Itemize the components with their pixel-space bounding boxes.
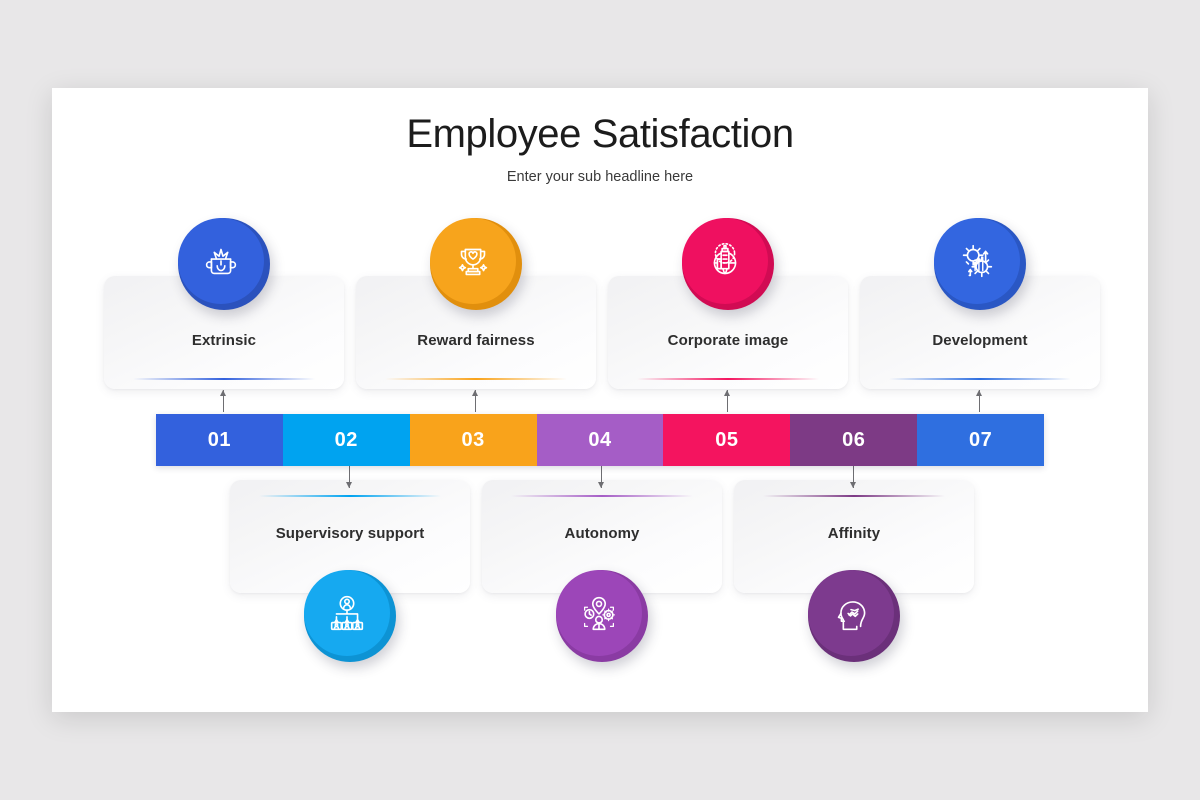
card-accent-line [385, 378, 567, 380]
slide-canvas: Employee Satisfaction Enter your sub hea… [52, 88, 1148, 712]
head-handshake-icon [828, 590, 874, 636]
step-segment-01[interactable]: 01 [156, 414, 283, 466]
trophy-heart-icon [450, 238, 496, 284]
connector-arrow-01 [218, 390, 229, 412]
step-segment-05[interactable]: 05 [663, 414, 790, 466]
icon-circle-supervisory-support[interactable] [304, 570, 396, 662]
card-label: Corporate image [608, 332, 848, 349]
card-accent-line [259, 495, 441, 497]
icon-circle-reward-fairness[interactable] [430, 218, 522, 310]
icon-circle-extrinsic[interactable] [178, 218, 270, 310]
card-label: Reward fairness [356, 332, 596, 349]
icon-circle-autonomy[interactable] [556, 570, 648, 662]
happy-head-icon [198, 238, 244, 284]
card-label: Autonomy [482, 525, 722, 542]
card-accent-line [637, 378, 819, 380]
person-gear-pin-icon [576, 590, 622, 636]
step-segment-03[interactable]: 03 [410, 414, 537, 466]
connector-arrow-05 [722, 390, 733, 412]
connector-arrow-02 [344, 466, 355, 488]
step-segment-06[interactable]: 06 [790, 414, 917, 466]
step-number-bar: 01 02 03 04 05 06 07 [156, 414, 1044, 466]
icon-circle-affinity[interactable] [808, 570, 900, 662]
card-label: Extrinsic [104, 332, 344, 349]
globe-building-icon [702, 238, 748, 284]
growth-gear-icon [954, 238, 1000, 284]
connector-arrow-07 [974, 390, 985, 412]
card-label: Affinity [734, 525, 974, 542]
page-subtitle: Enter your sub headline here [52, 169, 1148, 185]
org-chart-icon [324, 590, 370, 636]
step-segment-02[interactable]: 02 [283, 414, 410, 466]
card-label: Development [860, 332, 1100, 349]
connector-arrow-06 [848, 466, 859, 488]
card-accent-line [511, 495, 693, 497]
slide-header: Employee Satisfaction Enter your sub hea… [52, 112, 1148, 185]
card-label: Supervisory support [230, 525, 470, 542]
card-accent-line [889, 378, 1071, 380]
card-accent-line [133, 378, 315, 380]
step-segment-04[interactable]: 04 [537, 414, 664, 466]
step-segment-07[interactable]: 07 [917, 414, 1044, 466]
page-title: Employee Satisfaction [52, 112, 1148, 156]
icon-circle-corporate-image[interactable] [682, 218, 774, 310]
connector-arrow-03 [470, 390, 481, 412]
card-accent-line [763, 495, 945, 497]
connector-arrow-04 [596, 466, 607, 488]
icon-circle-development[interactable] [934, 218, 1026, 310]
